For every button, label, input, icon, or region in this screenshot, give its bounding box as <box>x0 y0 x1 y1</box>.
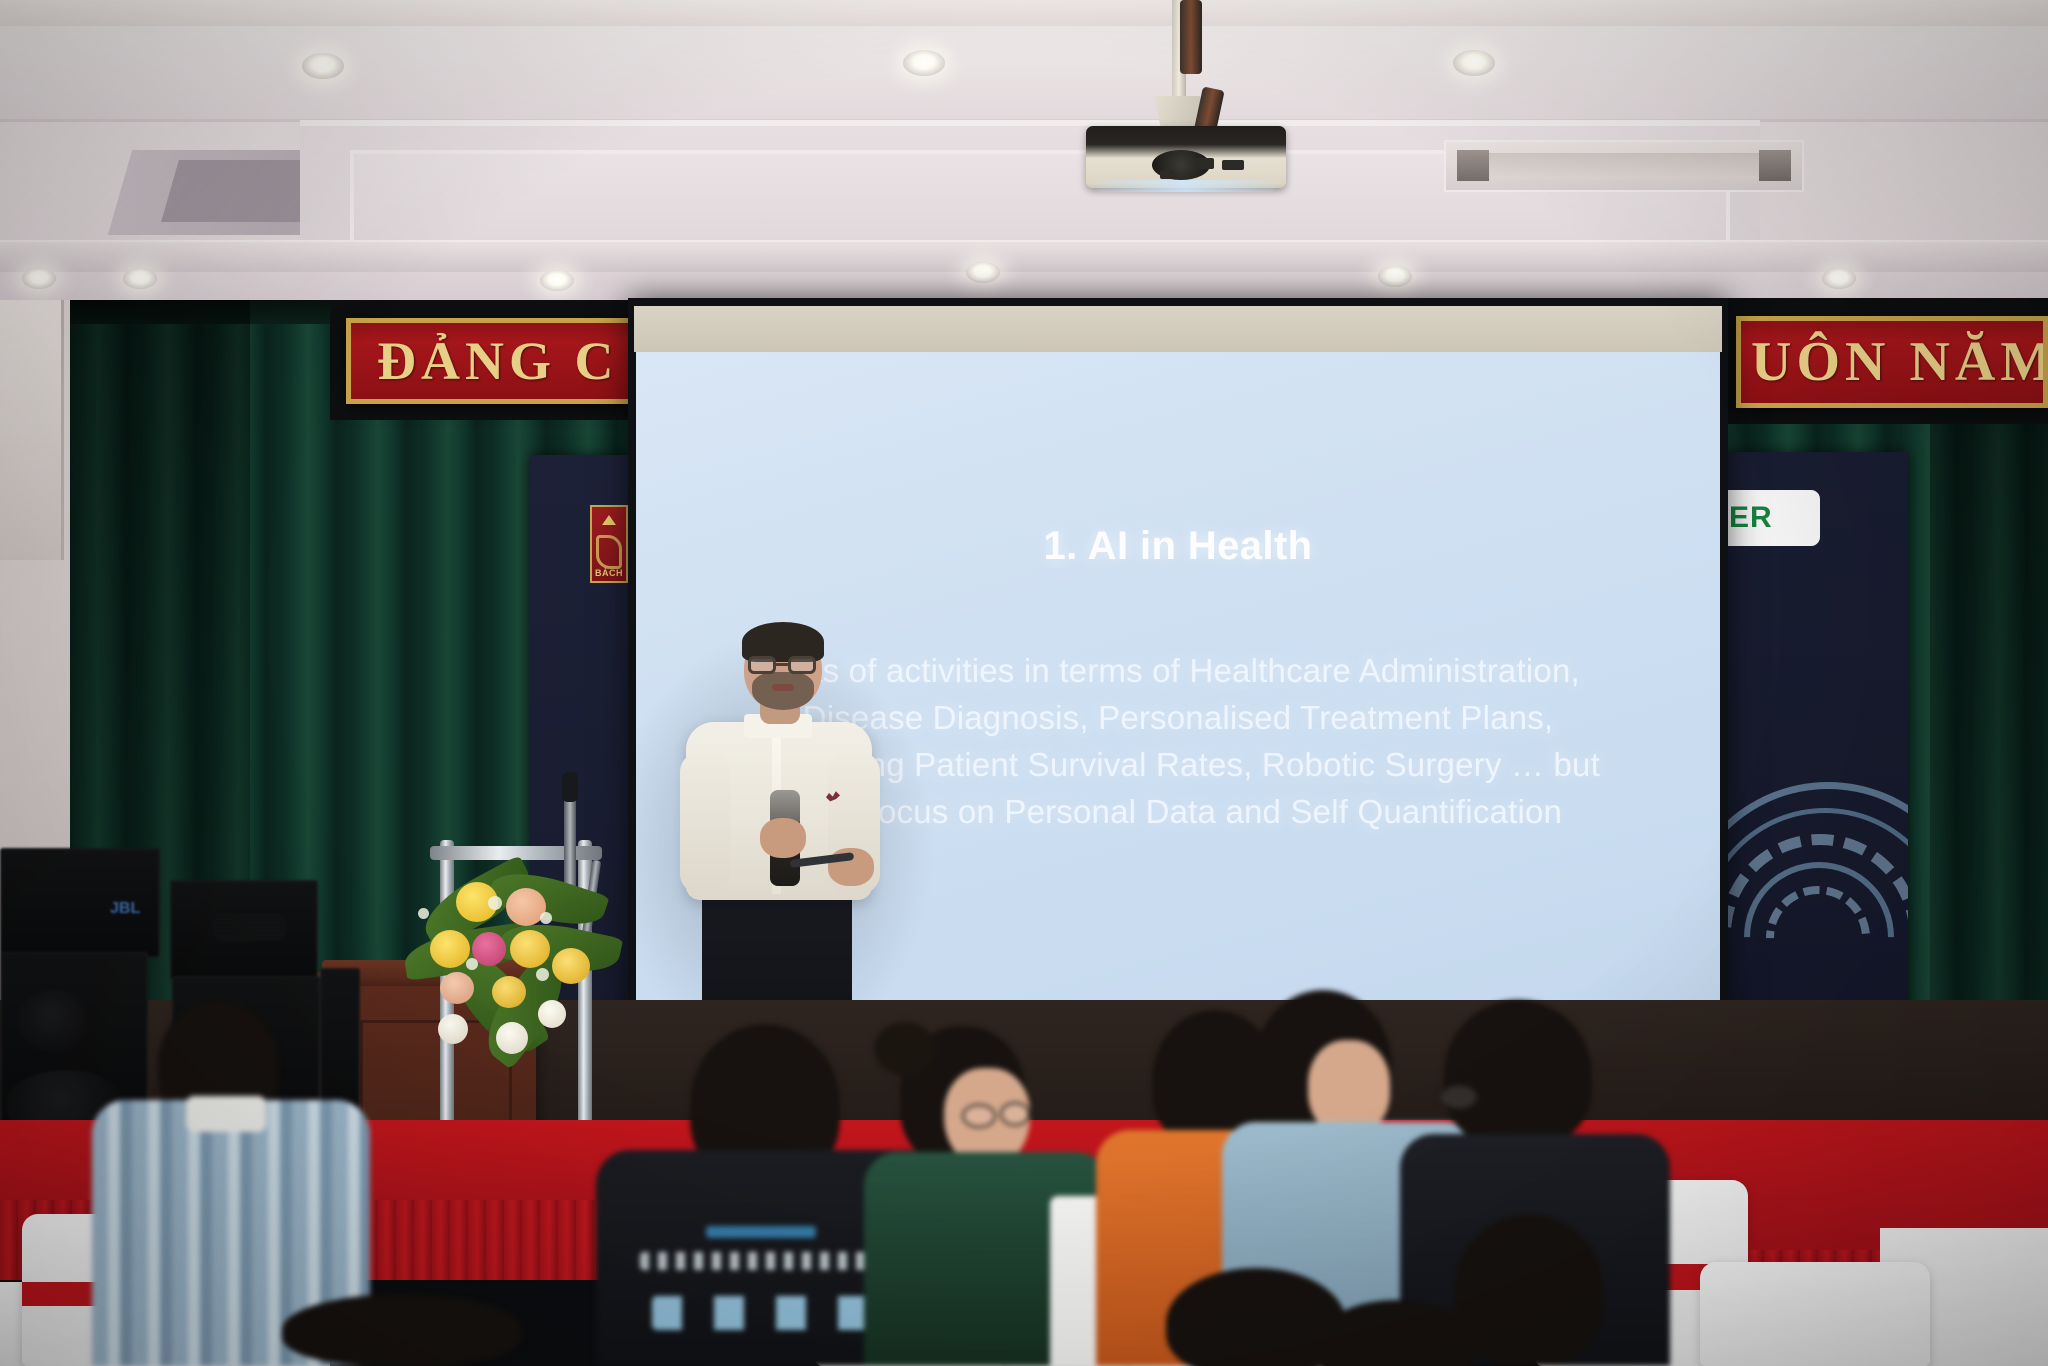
flower-bloom-yellow <box>552 948 590 984</box>
projector-port <box>1222 160 1244 170</box>
projector-glow <box>1096 180 1276 192</box>
emblem-mark-icon <box>596 535 622 569</box>
attendee-plaid-shirt-collar <box>186 1096 266 1132</box>
rollup-left-caption: BÁCH <box>595 568 623 578</box>
red-banner-right-text: UÔN NĂM <box>1751 330 2048 394</box>
slide-title: 1. AI in Health <box>636 524 1720 569</box>
presenter-beard <box>752 672 814 710</box>
downlight-icon <box>22 268 56 289</box>
attendee-graphic-print <box>640 1252 880 1270</box>
chair-cover <box>1700 1262 1930 1366</box>
downlight-icon <box>1453 50 1495 76</box>
conference-hall-photo: ĐẢNG C UÔN NĂM BÁCH VER 1. AI in Health … <box>0 0 2048 1366</box>
star-icon <box>602 515 616 525</box>
vent-end-left <box>1457 150 1489 182</box>
red-banner-left[interactable]: ĐẢNG C <box>346 318 646 404</box>
projector-port <box>1160 170 1174 179</box>
presenter-glasses-right-lens-icon <box>788 656 816 674</box>
flower-bloom-yellow <box>492 976 526 1008</box>
flower-bloom-yellow <box>430 930 470 968</box>
attendee-green-cardigan-bun <box>874 1022 936 1076</box>
flower-filler <box>540 912 552 924</box>
downlight-icon <box>966 262 1000 283</box>
attendee-foreground-head <box>282 1294 522 1366</box>
attendee-graphic-print-3 <box>706 1226 816 1238</box>
vent-blade <box>1467 153 1780 180</box>
projector-cables <box>1180 0 1202 74</box>
downlight-icon <box>1378 266 1412 287</box>
pa-speaker-badge: JBL <box>110 900 140 918</box>
pa-speaker-grille <box>212 912 286 942</box>
flower-filler <box>536 968 549 981</box>
vent-end-right <box>1759 150 1791 182</box>
downlight-icon <box>903 50 945 76</box>
downlight-icon <box>1822 268 1856 289</box>
podium-microphone-head <box>562 772 578 802</box>
ver-badge: VER <box>1718 490 1820 546</box>
flower-filler <box>418 908 429 919</box>
attendee-glasses-icon <box>962 1104 996 1128</box>
flower-bloom-white <box>496 1022 528 1054</box>
wall-door-left <box>0 300 64 560</box>
downlight-icon <box>540 270 574 291</box>
attendee-glasses-icon <box>1440 1084 1478 1110</box>
presenter-mouth <box>772 684 794 691</box>
attendee-graphic-print-2 <box>652 1296 872 1330</box>
presenter-glasses-left-lens-icon <box>748 656 776 674</box>
presenter-glasses-bridge-icon <box>776 663 788 666</box>
presenter-arm-left <box>680 752 730 894</box>
projector-port <box>1196 158 1214 169</box>
attendee-glasses-icon <box>1000 1102 1030 1126</box>
flower-filler <box>488 896 502 910</box>
red-banner-left-text: ĐẢNG C <box>377 330 619 392</box>
downlight-icon <box>302 53 344 79</box>
attendee-far-right-head <box>1454 1214 1604 1366</box>
pa-speaker-cone-icon <box>18 990 92 1052</box>
flower-filler <box>466 958 478 970</box>
vietnam-flag-logo-icon: BÁCH <box>590 505 628 583</box>
projection-screen-top-bar <box>634 306 1722 352</box>
presenter-hand-left <box>760 818 806 858</box>
air-vent <box>1444 140 1804 192</box>
flower-bloom-white <box>438 1014 468 1044</box>
ceiling-top-strip <box>0 0 2048 26</box>
flower-bloom-white <box>538 1000 566 1028</box>
attendee-dark-shirt-head <box>1444 1000 1592 1148</box>
red-banner-right[interactable]: UÔN NĂM <box>1736 316 2048 408</box>
downlight-icon <box>123 268 157 289</box>
flower-bloom-yellow <box>510 930 550 968</box>
flower-bloom-peach <box>440 972 474 1004</box>
ceiling-cornice <box>0 240 2048 274</box>
